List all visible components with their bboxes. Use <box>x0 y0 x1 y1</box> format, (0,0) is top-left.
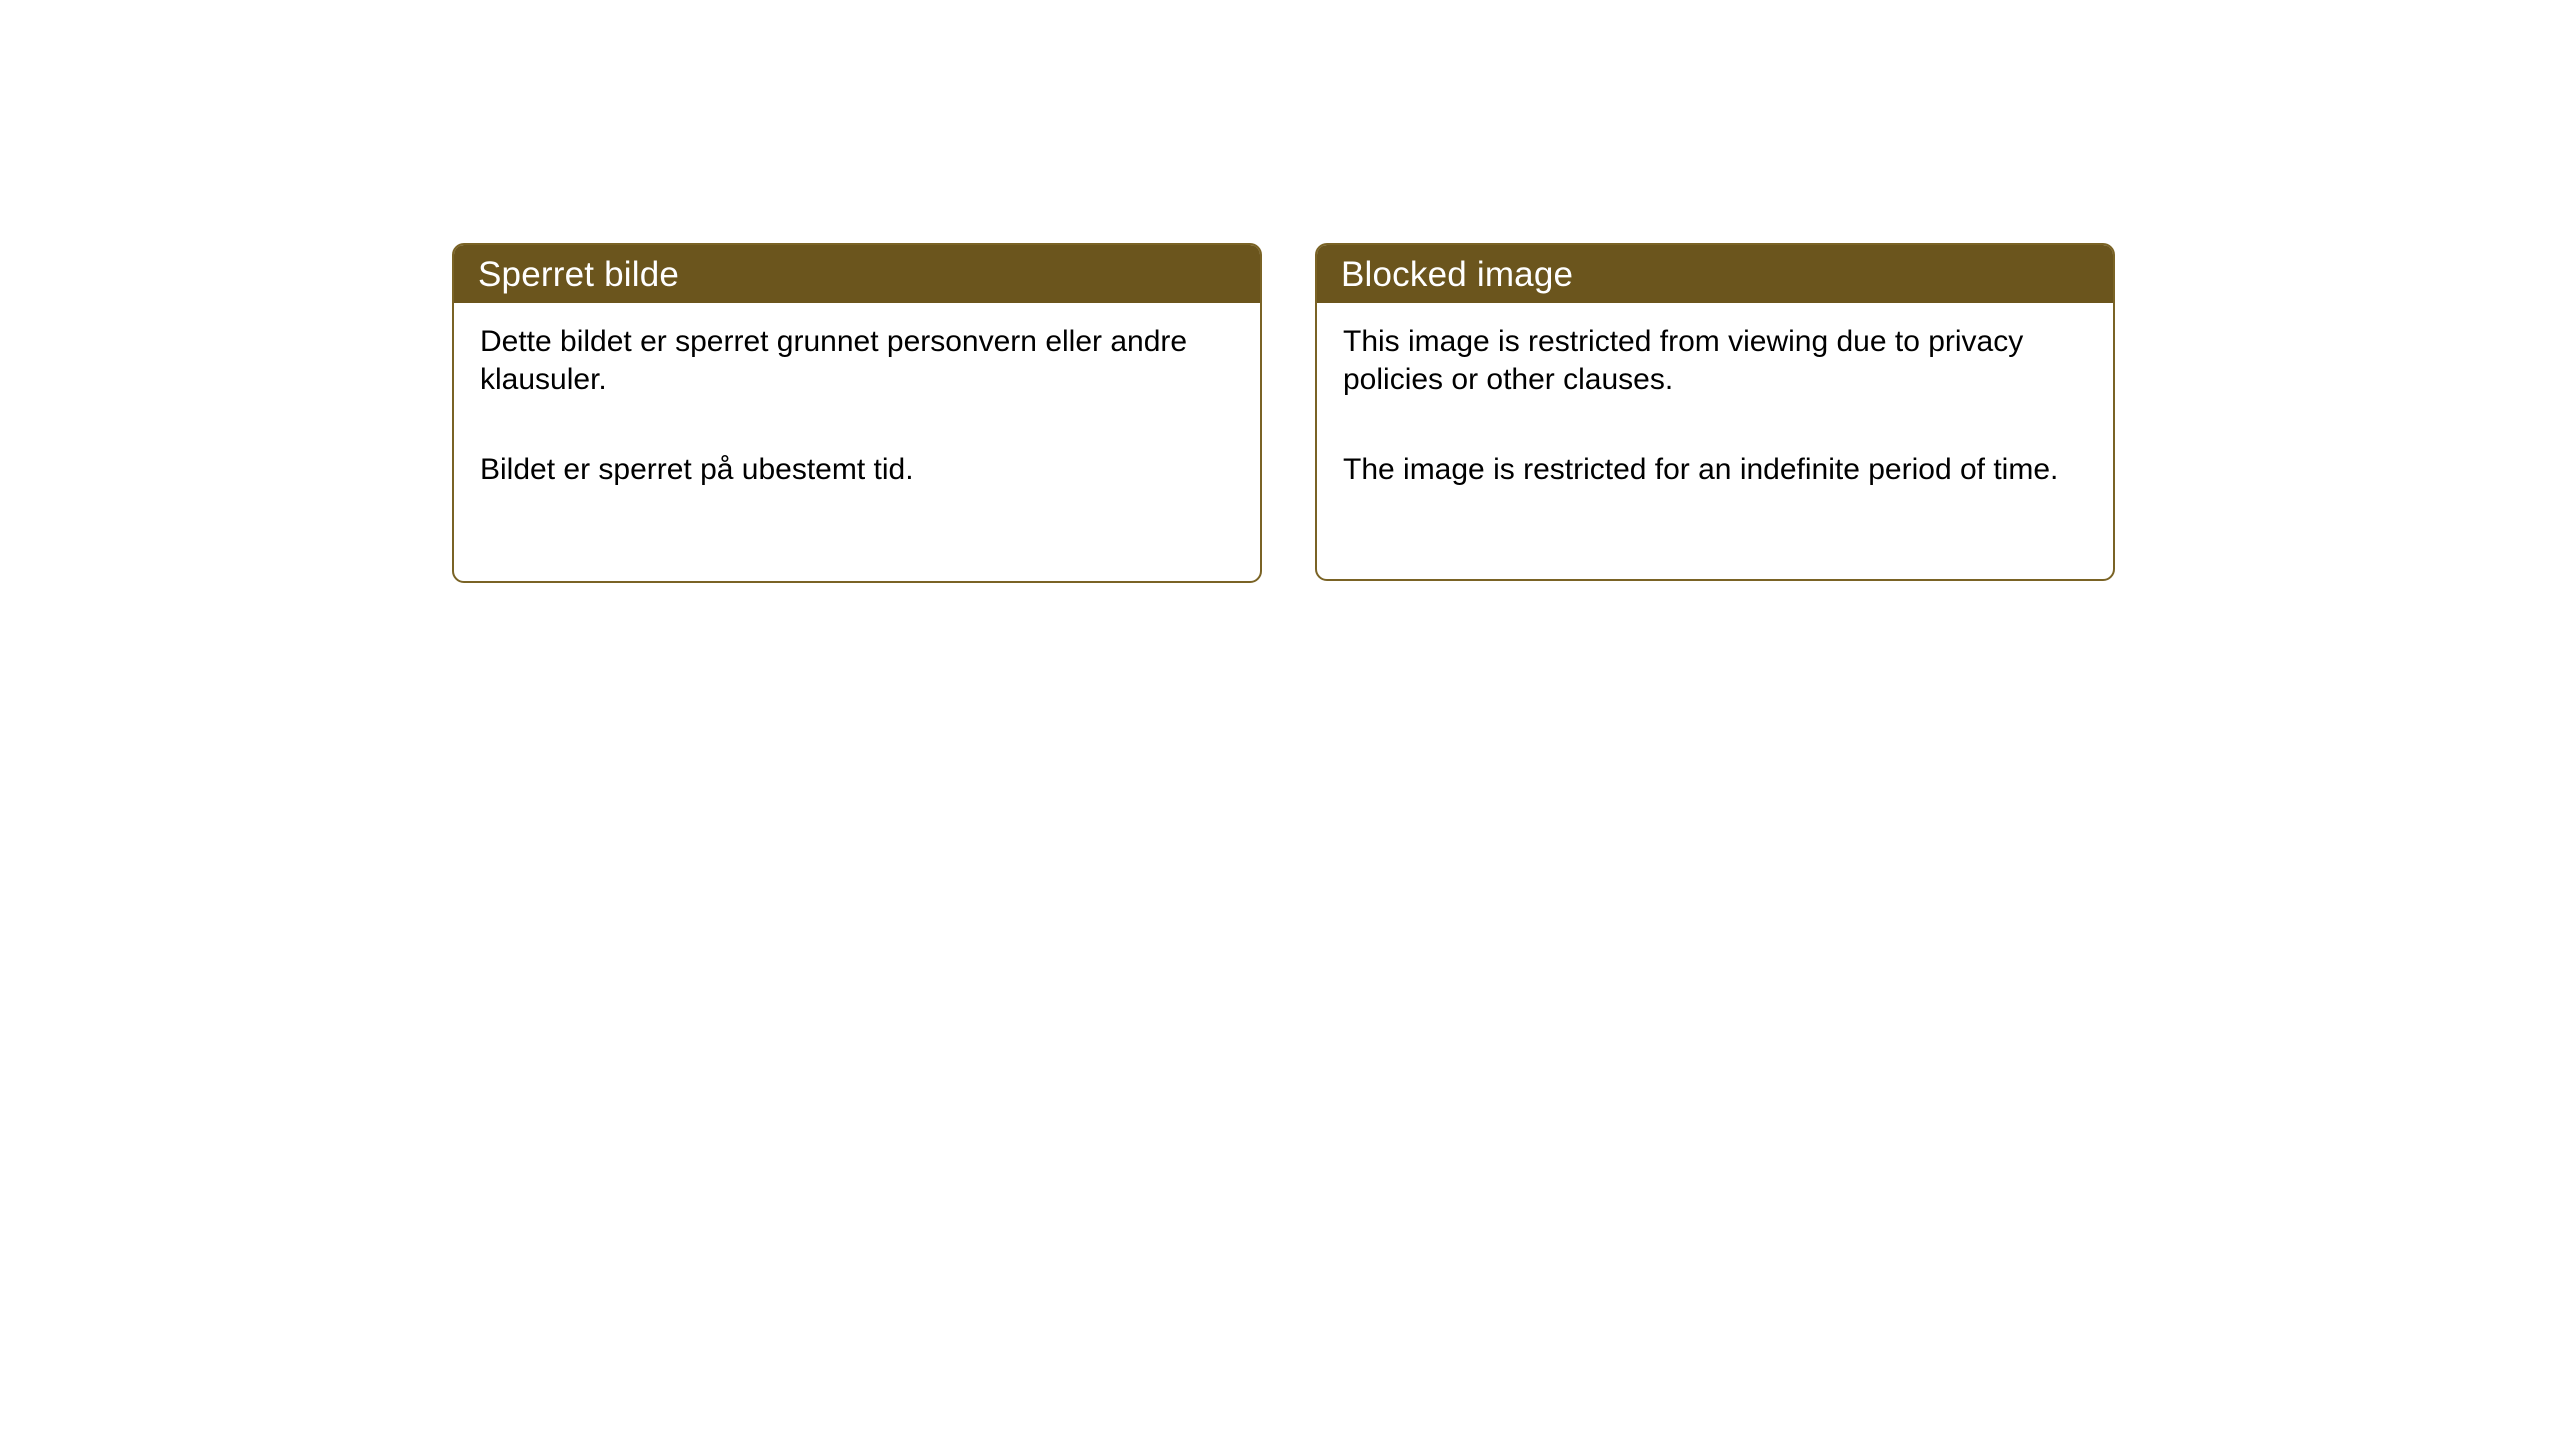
notice-card-group: Sperret bilde Dette bildet er sperret gr… <box>452 243 2115 583</box>
notice-title-no: Sperret bilde <box>478 257 679 292</box>
notice-paragraph-en-1: This image is restricted from viewing du… <box>1343 323 2091 399</box>
notice-header-en: Blocked image <box>1317 245 2113 303</box>
notice-title-en: Blocked image <box>1341 257 1573 292</box>
blocked-image-notice-no: Sperret bilde Dette bildet er sperret gr… <box>452 243 1262 583</box>
notice-body-no: Dette bildet er sperret grunnet personve… <box>454 303 1260 581</box>
notice-header-no: Sperret bilde <box>454 245 1260 303</box>
notice-paragraph-no-2: Bildet er sperret på ubestemt tid. <box>480 451 1238 489</box>
notice-body-en: This image is restricted from viewing du… <box>1317 303 2113 579</box>
notice-paragraph-no-1: Dette bildet er sperret grunnet personve… <box>480 323 1238 399</box>
notice-paragraph-en-2: The image is restricted for an indefinit… <box>1343 451 2091 489</box>
blocked-image-notice-en: Blocked image This image is restricted f… <box>1315 243 2115 581</box>
